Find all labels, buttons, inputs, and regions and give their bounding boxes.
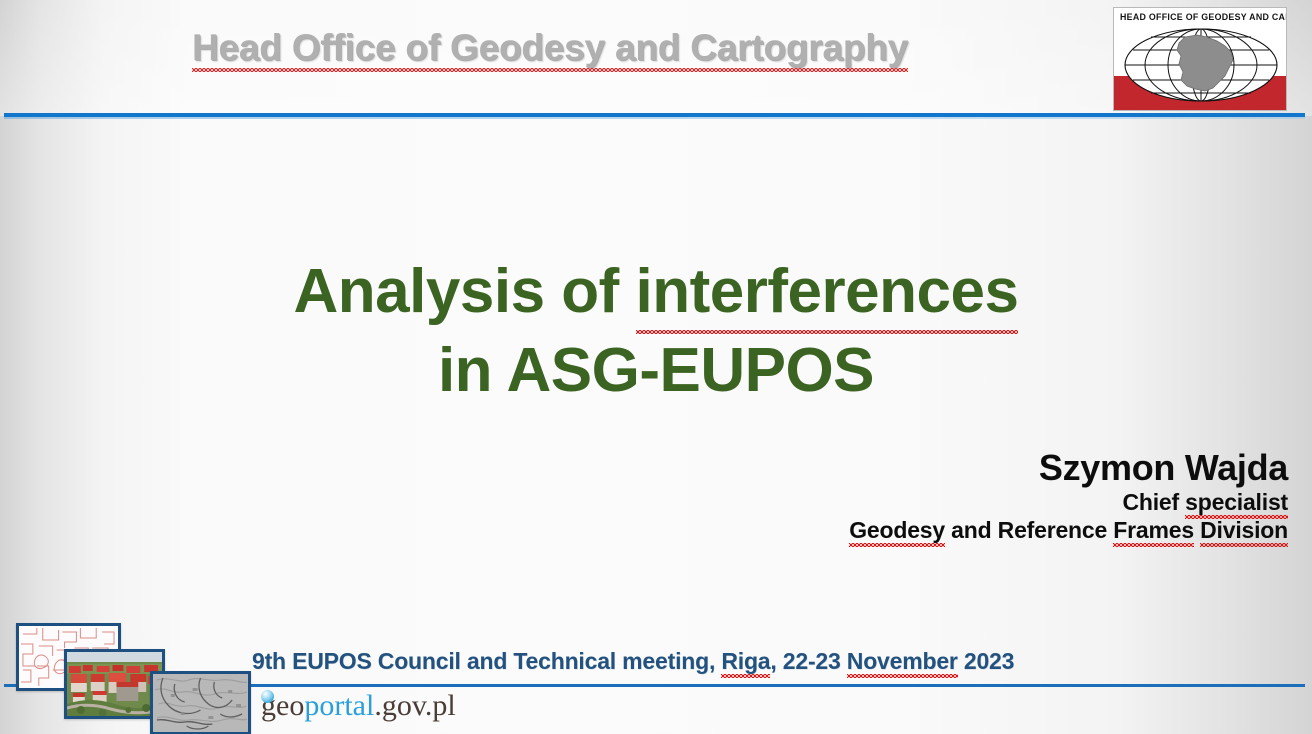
title-line-1: Analysis of interferences bbox=[0, 252, 1312, 331]
author-role: Chief specialist bbox=[849, 488, 1288, 516]
header-title-text: Head Office of Geodesy and Cartography bbox=[192, 27, 908, 69]
division-a: Geodesy bbox=[849, 516, 945, 544]
author-block: Szymon Wajda Chief specialist Geodesy an… bbox=[849, 448, 1288, 544]
geoportal-logo[interactable]: geoportal.gov.pl bbox=[260, 689, 456, 723]
geoportal-tld: .gov.pl bbox=[374, 689, 455, 722]
event-month: November bbox=[847, 648, 958, 675]
division-e: Division bbox=[1200, 516, 1288, 544]
author-role-b: specialist bbox=[1185, 488, 1288, 516]
author-division: Geodesy and Reference Frames Division bbox=[849, 516, 1288, 544]
header-title: Head Office of Geodesy and Cartography bbox=[0, 27, 1100, 69]
globe-dot-icon bbox=[261, 690, 274, 703]
gugik-logo: HEAD OFFICE OF GEODESY AND CARTOGRAPHY bbox=[1113, 7, 1287, 111]
logo-caption: HEAD OFFICE OF GEODESY AND CARTOGRAPHY bbox=[1120, 12, 1280, 23]
presentation-slide: Head Office of Geodesy and Cartography H… bbox=[0, 0, 1312, 734]
author-name: Szymon Wajda bbox=[849, 448, 1288, 488]
geoportal-eo: eo bbox=[276, 689, 304, 722]
event-a: 9th EUPOS Council and Technical meeting, bbox=[252, 648, 721, 674]
event-e: 2023 bbox=[958, 648, 1015, 674]
terrain-relief-thumbnail bbox=[150, 671, 251, 734]
event-c: , 22-23 bbox=[770, 648, 846, 674]
author-role-a: Chief bbox=[1122, 489, 1185, 515]
title-part-b: interferences bbox=[636, 252, 1019, 331]
event-caption: 9th EUPOS Council and Technical meeting,… bbox=[252, 648, 1014, 675]
title-part-a: Analysis of bbox=[294, 257, 636, 326]
aerial-city-graphic bbox=[67, 652, 162, 716]
header-divider-shadow bbox=[4, 117, 1305, 119]
globe-poland-icon bbox=[1121, 26, 1281, 104]
event-city: Riga bbox=[721, 648, 770, 675]
terrain-relief-graphic bbox=[153, 674, 248, 732]
title-line-2: in ASG-EUPOS bbox=[0, 331, 1312, 410]
slide-title: Analysis of interferences in ASG-EUPOS bbox=[0, 252, 1312, 410]
geoportal-portal: portal bbox=[304, 689, 374, 722]
division-c: Frames bbox=[1113, 516, 1194, 544]
division-b: and Reference bbox=[945, 517, 1113, 543]
